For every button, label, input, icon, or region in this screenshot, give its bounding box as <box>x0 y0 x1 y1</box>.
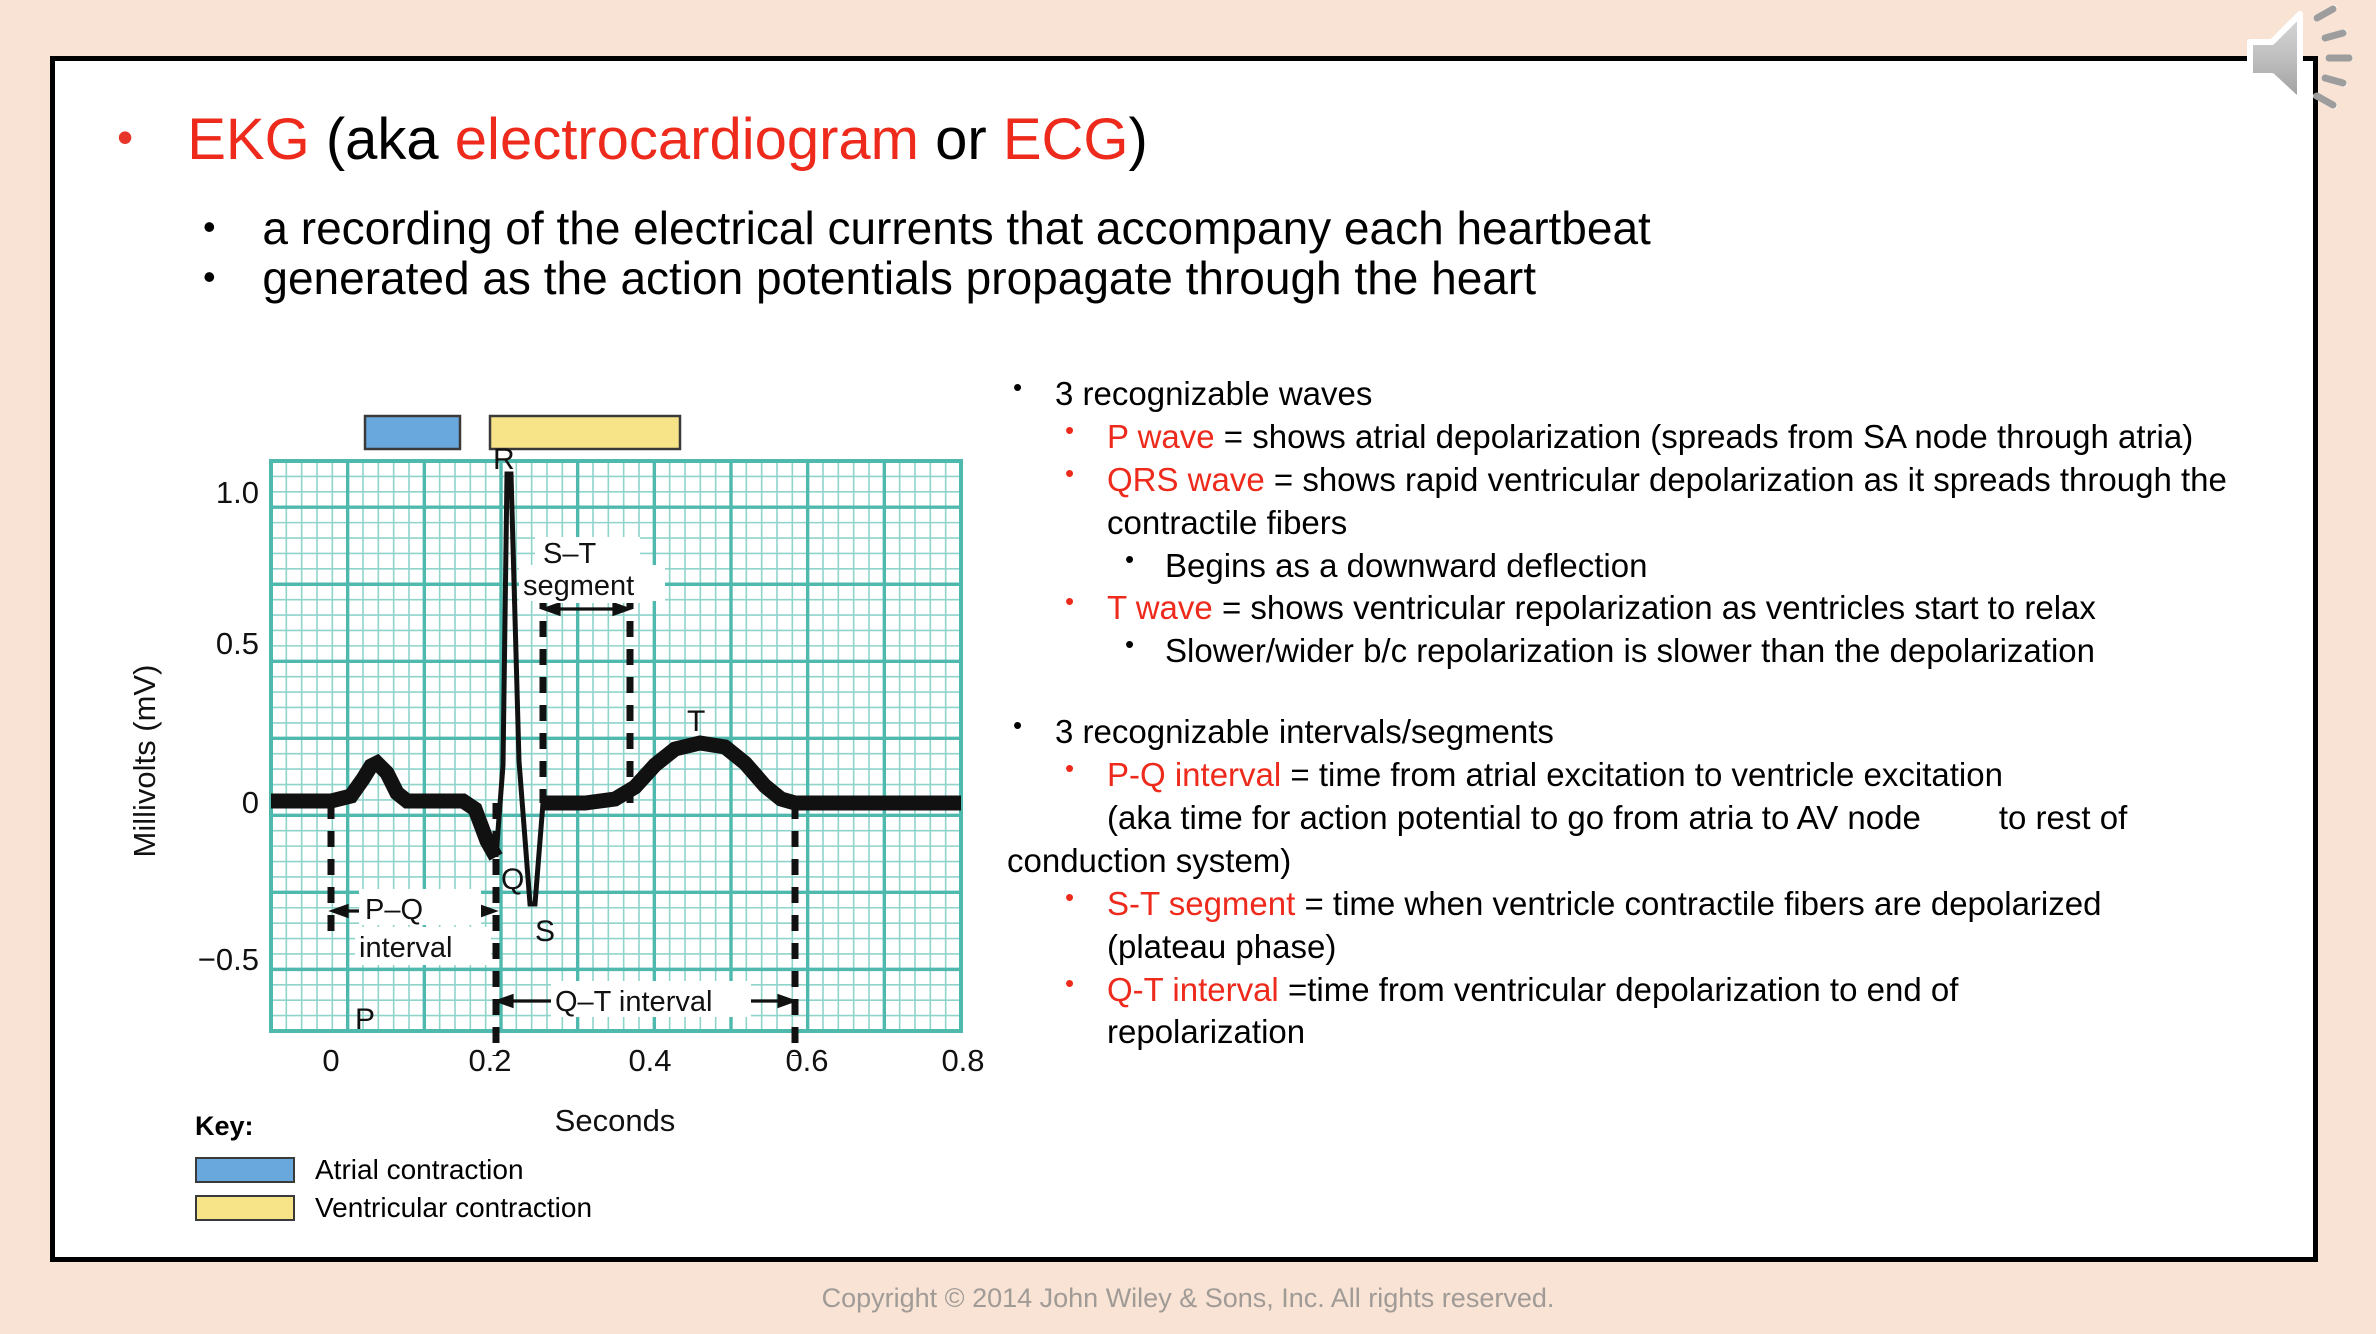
wave-label-T: T <box>687 705 705 738</box>
speaker-icon[interactable] <box>2238 4 2376 139</box>
bullet-icon: • <box>1013 371 1022 405</box>
wave-label-Q: Q <box>501 863 524 896</box>
key-label-atrial: Atrial contraction <box>315 1154 524 1186</box>
desc-st-segment: = time when ventricle contractile fibers… <box>1295 885 2101 922</box>
desc-pq-line3: conduction system) <box>1007 842 1291 879</box>
notes-item-pq-interval-line3: conduction system) <box>1007 840 2297 883</box>
term-t-wave: T wave <box>1107 589 1213 626</box>
title-close-paren: ) <box>1129 107 1148 172</box>
title-ecg: ECG <box>1003 107 1129 172</box>
desc-pq-line2b: to rest of <box>1999 799 2127 836</box>
notes-heading-waves: • 3 recognizable waves <box>1007 373 2297 416</box>
x-tick-0-6: 0.6 <box>785 1043 828 1078</box>
subtitle-text-2: generated as the action potentials propa… <box>262 252 1536 304</box>
ekg-chart-svg: P Q R S T S–T segment P–Q interval <box>115 341 995 1171</box>
wave-label-S: S <box>535 915 555 948</box>
notes-item-t-wave: • T wave = shows ventricular repolarizat… <box>1007 587 2297 630</box>
bullet-icon: • <box>1065 881 1074 915</box>
ekg-figure: P Q R S T S–T segment P–Q interval <box>115 341 995 1171</box>
bullet-icon: • <box>1065 457 1074 491</box>
desc-qt-line2: repolarization <box>1107 1013 1305 1050</box>
notes-subitem-slower-wider: • Slower/wider b/c repolarization is slo… <box>1007 630 2297 673</box>
title-or: or <box>919 107 1003 172</box>
notes-item-pq-interval: • P-Q interval = time from atrial excita… <box>1007 754 2297 797</box>
y-tick-0: 0 <box>242 785 259 820</box>
x-tick-0: 0 <box>322 1043 339 1078</box>
desc-t-wave: = shows ventricular repolarization as ve… <box>1213 589 2096 626</box>
term-pq-interval: P-Q interval <box>1107 756 1281 793</box>
notes-column: • 3 recognizable waves • P wave = shows … <box>1007 373 2297 1054</box>
desc-qt-interval: =time from ventricular depolarization to… <box>1279 971 1959 1008</box>
subtitle-line-1: • a recording of the electrical currents… <box>203 201 1651 255</box>
bullet-icon: • <box>1065 967 1074 1001</box>
key-row-atrial: Atrial contraction <box>195 1154 592 1186</box>
qt-interval-label: Q–T interval <box>555 986 712 1018</box>
x-tick-0-8: 0.8 <box>941 1043 984 1078</box>
desc-pq-interval: = time from atrial excitation to ventric… <box>1281 756 2003 793</box>
y-axis-title: Millivolts (mV) <box>127 665 162 858</box>
key-swatch-atrial <box>195 1157 295 1183</box>
term-qrs-wave: QRS wave <box>1107 461 1265 498</box>
notes-item-qrs-wave: • QRS wave = shows rapid ventricular dep… <box>1007 459 2297 545</box>
key-label-ventricular: Ventricular contraction <box>315 1192 592 1224</box>
slide-canvas: • EKG (aka electrocardiogram or ECG) • a… <box>0 0 2376 1334</box>
subtitle-text-1: a recording of the electrical currents t… <box>262 202 1650 254</box>
key-swatch-ventricular <box>195 1195 295 1221</box>
key-row-ventricular: Ventricular contraction <box>195 1192 592 1224</box>
notes-item-qt-interval: • Q-T interval =time from ventricular de… <box>1007 969 2297 1012</box>
bullet-icon: • <box>1013 709 1022 743</box>
x-tick-0-2: 0.2 <box>468 1043 511 1078</box>
desc-qrs-wave: = shows rapid ventricular depolarization… <box>1107 461 2227 541</box>
notes-item-pq-interval-line2: (aka time for action potential to go fro… <box>1007 797 2297 840</box>
footer-copyright: Copyright © 2014 John Wiley & Sons, Inc.… <box>0 1283 2376 1314</box>
st-segment-label-line2: segment <box>523 570 634 602</box>
notes-item-st-segment-line2: (plateau phase) <box>1007 926 2297 969</box>
notes-heading-intervals: • 3 recognizable intervals/segments <box>1007 711 2297 754</box>
bullet-icon: • <box>1125 628 1134 662</box>
figure-key: Key: Atrial contraction Ventricular cont… <box>195 1111 592 1230</box>
y-tick-1-0: 1.0 <box>216 475 259 510</box>
section-spacer <box>1007 673 2297 711</box>
wave-label-P: P <box>355 1003 375 1036</box>
title-ekg: EKG <box>187 107 310 172</box>
bullet-icon: • <box>1065 752 1074 786</box>
desc-p-wave: = shows atrial depolarization (spreads f… <box>1215 418 2194 455</box>
bullet-icon: • <box>203 256 216 297</box>
notes-heading-waves-text: 3 recognizable waves <box>1055 375 1372 412</box>
ventricular-contraction-bar <box>490 416 680 449</box>
desc-pq-line2a: (aka time for action potential to go fro… <box>1107 799 1921 836</box>
bullet-icon: • <box>1065 414 1074 448</box>
term-p-wave: P wave <box>1107 418 1215 455</box>
notes-item-qt-interval-line2: repolarization <box>1007 1011 2297 1054</box>
x-tick-0-4: 0.4 <box>628 1043 671 1078</box>
desc-slower-wider: Slower/wider b/c repolarization is slowe… <box>1165 632 2095 669</box>
desc-st-line2: (plateau phase) <box>1107 928 1336 965</box>
bullet-icon: • <box>117 111 133 163</box>
title-electrocardiogram: electrocardiogram <box>455 107 919 172</box>
atrial-contraction-bar <box>365 416 460 449</box>
notes-heading-intervals-text: 3 recognizable intervals/segments <box>1055 713 1554 750</box>
bullet-icon: • <box>1065 585 1074 619</box>
term-st-segment: S-T segment <box>1107 885 1295 922</box>
bullet-icon: • <box>1125 543 1134 577</box>
notes-subitem-downward-deflection: • Begins as a downward deflection <box>1007 545 2297 588</box>
wave-label-R: R <box>493 443 515 476</box>
key-title: Key: <box>195 1111 592 1142</box>
desc-downward-deflection: Begins as a downward deflection <box>1165 547 1647 584</box>
title-aka: (aka <box>310 107 455 172</box>
bullet-icon: • <box>203 206 216 247</box>
notes-item-st-segment: • S-T segment = time when ventricle cont… <box>1007 883 2297 926</box>
pq-interval-label-line2: interval <box>359 932 453 964</box>
subtitle-line-2: • generated as the action potentials pro… <box>203 251 1536 305</box>
title-bullet-line: • EKG (aka electrocardiogram or ECG) <box>117 111 1148 169</box>
notes-item-p-wave: • P wave = shows atrial depolarization (… <box>1007 416 2297 459</box>
pq-interval-label-line1: P–Q <box>365 894 423 926</box>
term-qt-interval: Q-T interval <box>1107 971 1279 1008</box>
y-tick-neg-0-5: −0.5 <box>198 942 259 977</box>
y-tick-0-5: 0.5 <box>216 626 259 661</box>
slide-content-frame: • EKG (aka electrocardiogram or ECG) • a… <box>50 56 2318 1262</box>
